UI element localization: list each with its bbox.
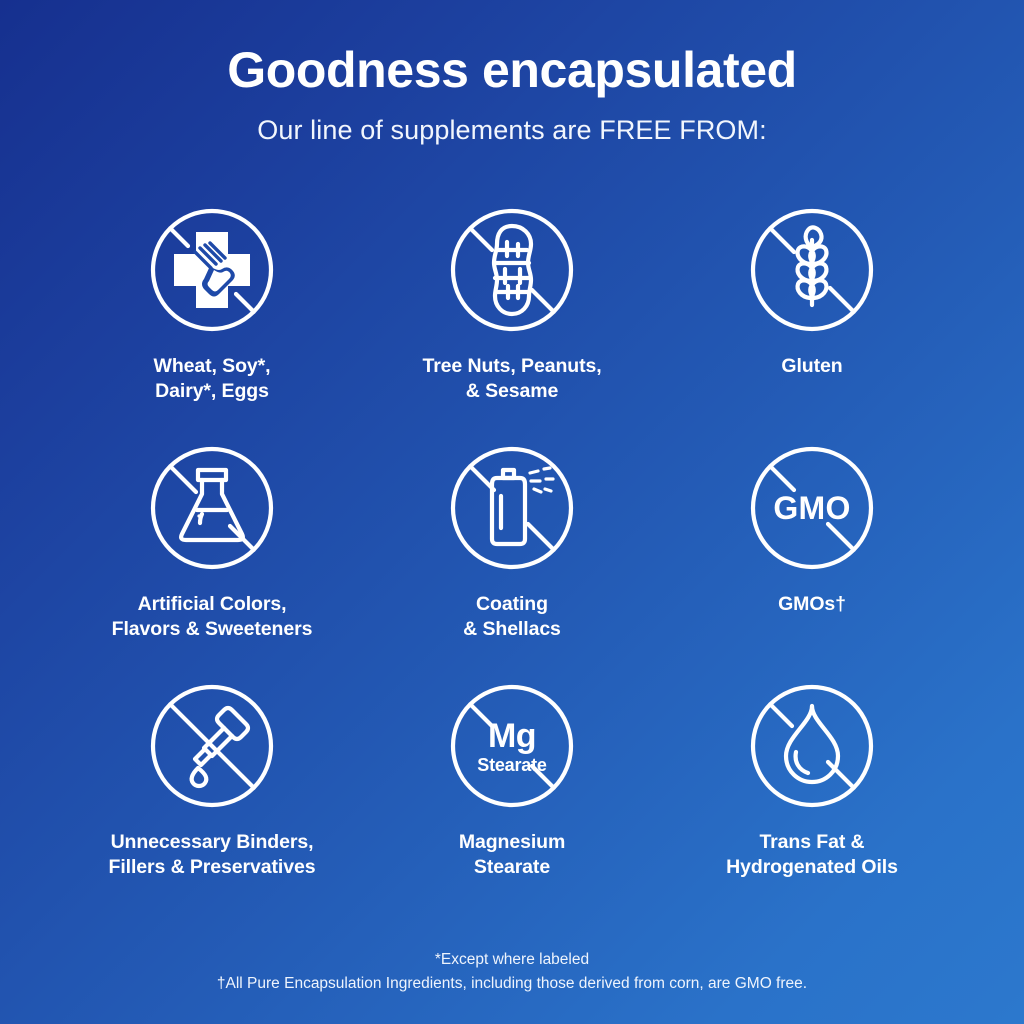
- grid-item: Coating & Shellacs: [362, 444, 662, 682]
- no-peanut-icon: [448, 206, 576, 334]
- infographic-page: Goodness encapsulated Our line of supple…: [0, 0, 1024, 1024]
- footnote-asterisk: *Except where labeled: [0, 948, 1024, 972]
- grid-item: Trans Fat & Hydrogenated Oils: [662, 682, 962, 920]
- footnotes: *Except where labeled †All Pure Encapsul…: [0, 948, 1024, 996]
- grid-item: Wheat, Soy*, Dairy*, Eggs: [62, 206, 362, 444]
- grid-item: Unnecessary Binders, Fillers & Preservat…: [62, 682, 362, 920]
- no-allergens-cross-icon: [148, 206, 276, 334]
- no-magnesium-stearate-icon: Mg Stearate: [448, 682, 576, 810]
- grid-item-label: GMOs†: [778, 592, 846, 617]
- grid-item: Artificial Colors, Flavors & Sweeteners: [62, 444, 362, 682]
- grid-item-label: Gluten: [781, 354, 842, 379]
- grid-item-label: Magnesium Stearate: [459, 830, 565, 880]
- grid-item: Gluten: [662, 206, 962, 444]
- grid-item-label: Artificial Colors, Flavors & Sweeteners: [112, 592, 313, 642]
- grid-item: Tree Nuts, Peanuts, & Sesame: [362, 206, 662, 444]
- grid-item: Mg Stearate Magnesium Stearate: [362, 682, 662, 920]
- grid-item-label: Tree Nuts, Peanuts, & Sesame: [422, 354, 601, 404]
- free-from-grid: Wheat, Soy*, Dairy*, Eggs Tree Nuts, Pea…: [62, 206, 962, 920]
- page-title: Goodness encapsulated: [0, 44, 1024, 97]
- no-dropper-icon: [148, 682, 276, 810]
- no-oil-droplet-icon: [748, 682, 876, 810]
- grid-item-label: Trans Fat & Hydrogenated Oils: [726, 830, 898, 880]
- grid-item-label: Wheat, Soy*, Dairy*, Eggs: [154, 354, 271, 404]
- no-wheat-stalk-icon: [748, 206, 876, 334]
- page-subtitle: Our line of supplements are FREE FROM:: [0, 115, 1024, 146]
- no-spray-can-icon: [448, 444, 576, 572]
- no-gmo-icon: GMO: [748, 444, 876, 572]
- grid-item-label: Unnecessary Binders, Fillers & Preservat…: [109, 830, 316, 880]
- grid-item: GMO GMOs†: [662, 444, 962, 682]
- grid-item-label: Coating & Shellacs: [463, 592, 561, 642]
- footnote-dagger: †All Pure Encapsulation Ingredients, inc…: [0, 972, 1024, 996]
- header: Goodness encapsulated Our line of supple…: [0, 44, 1024, 146]
- no-flask-icon: [148, 444, 276, 572]
